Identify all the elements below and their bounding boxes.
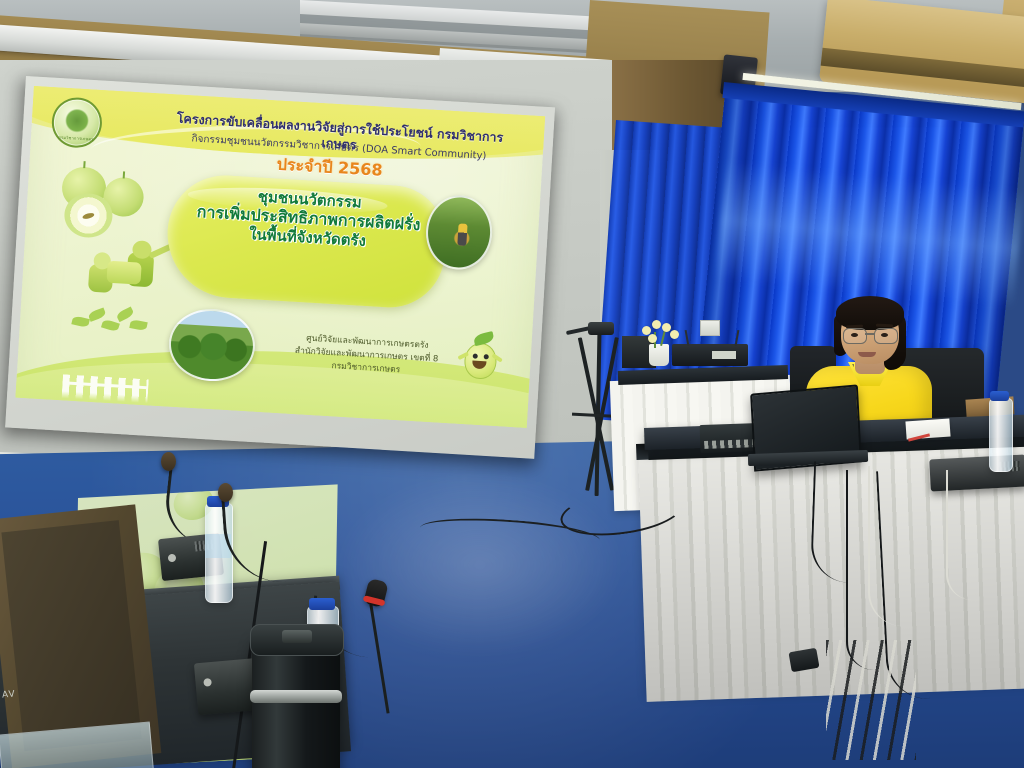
bottle-cap bbox=[990, 391, 1009, 401]
cable-bundle bbox=[826, 640, 916, 760]
orchard-farmer bbox=[457, 223, 467, 245]
guava-stem bbox=[123, 171, 125, 178]
flower-icon bbox=[648, 334, 657, 343]
glasses-bridge bbox=[865, 333, 874, 335]
leaf-icon bbox=[71, 315, 90, 328]
presenter-eye bbox=[851, 333, 858, 337]
foreground-equipment-label: AV bbox=[2, 689, 17, 700]
mic-indicator-light bbox=[168, 554, 177, 563]
wireless-receiver bbox=[672, 344, 748, 366]
tumbler-ring bbox=[250, 690, 342, 703]
leaf-icon bbox=[129, 319, 147, 331]
microphone-head-icon[interactable] bbox=[218, 483, 233, 502]
foreground-wood-panel-inner bbox=[1, 520, 141, 751]
presenter-mouth bbox=[858, 352, 876, 357]
cable-white bbox=[868, 466, 902, 626]
tripod-head bbox=[588, 322, 614, 335]
wall-socket bbox=[700, 320, 720, 336]
mic-indicator-light bbox=[203, 678, 212, 687]
tumbler-button[interactable] bbox=[282, 630, 312, 643]
leaf-icon bbox=[101, 319, 120, 333]
flower-arrangement bbox=[636, 318, 682, 350]
cable-white bbox=[946, 470, 972, 600]
harvest-basket bbox=[106, 261, 141, 285]
guava-stem bbox=[83, 161, 85, 168]
water-bottle bbox=[989, 398, 1013, 472]
presenter-eye bbox=[881, 333, 888, 337]
mascot-leaf bbox=[473, 331, 495, 346]
flower-icon bbox=[652, 320, 661, 329]
flower-stem bbox=[660, 330, 666, 346]
picket-fence-decor bbox=[62, 374, 149, 403]
flower-icon bbox=[670, 330, 679, 339]
bottle-cap bbox=[309, 598, 335, 610]
microphone-head-icon[interactable] bbox=[161, 452, 176, 471]
presentation-slide: กรมวิชาการเกษตร โครงการขับเคลื่อนผลงานวิ… bbox=[15, 86, 545, 428]
seal-caption: กรมวิชาการเกษตร bbox=[53, 133, 99, 143]
conference-room-photo: กรมวิชาการเกษตร โครงการขับเคลื่อนผลงานวิ… bbox=[0, 0, 1024, 768]
flower-icon bbox=[662, 323, 671, 332]
leaf-decor bbox=[67, 302, 155, 341]
air-conditioner-vent bbox=[821, 48, 1024, 88]
